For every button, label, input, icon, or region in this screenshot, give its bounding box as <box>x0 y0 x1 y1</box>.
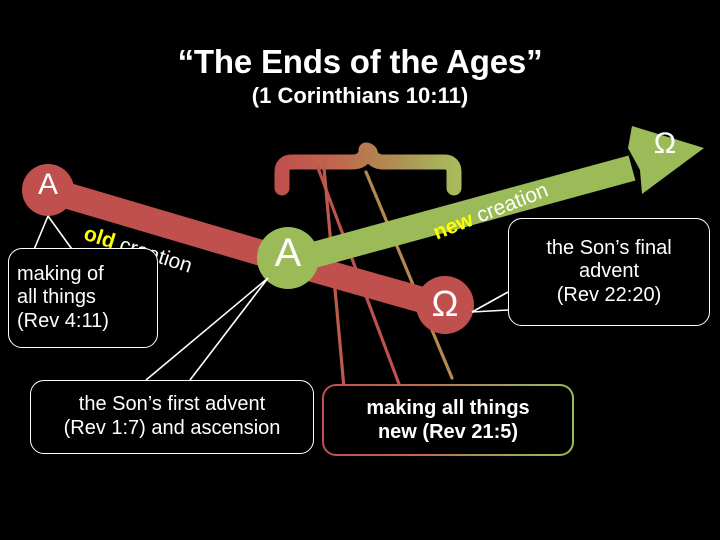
callout-first-advent: the Son’s first advent (Rev 1:7) and asc… <box>30 380 314 454</box>
slide-canvas: “The Ends of the Ages” (1 Corinthians 10… <box>0 0 720 540</box>
callout-first-advent-line2: (Rev 1:7) and ascension <box>41 417 303 441</box>
old-creation-band-tail <box>288 262 474 334</box>
callout-first-advent-line1: the Son’s first advent <box>41 393 303 417</box>
callout-final-advent-line1: the Son’s final <box>517 237 701 261</box>
callout-final-advent: the Son’s final advent (Rev 22:20) <box>508 218 710 326</box>
callout-creation-line1: making of <box>17 263 149 287</box>
callout-final-advent-line2: advent <box>517 260 701 284</box>
era-brace-icon <box>282 150 454 188</box>
callout-making-new-line2: new (Rev 21:5) <box>378 420 518 444</box>
callout-creation-line2: all things <box>17 286 149 310</box>
callout-creation: making of all things (Rev 4:11) <box>8 248 158 348</box>
callout-creation-line3: (Rev 4:11) <box>17 310 149 334</box>
callout-final-advent-line3: (Rev 22:20) <box>517 284 701 308</box>
callout-making-new: making all things new (Rev 21:5) <box>322 384 574 456</box>
callout-making-new-line1: making all things <box>366 396 529 420</box>
